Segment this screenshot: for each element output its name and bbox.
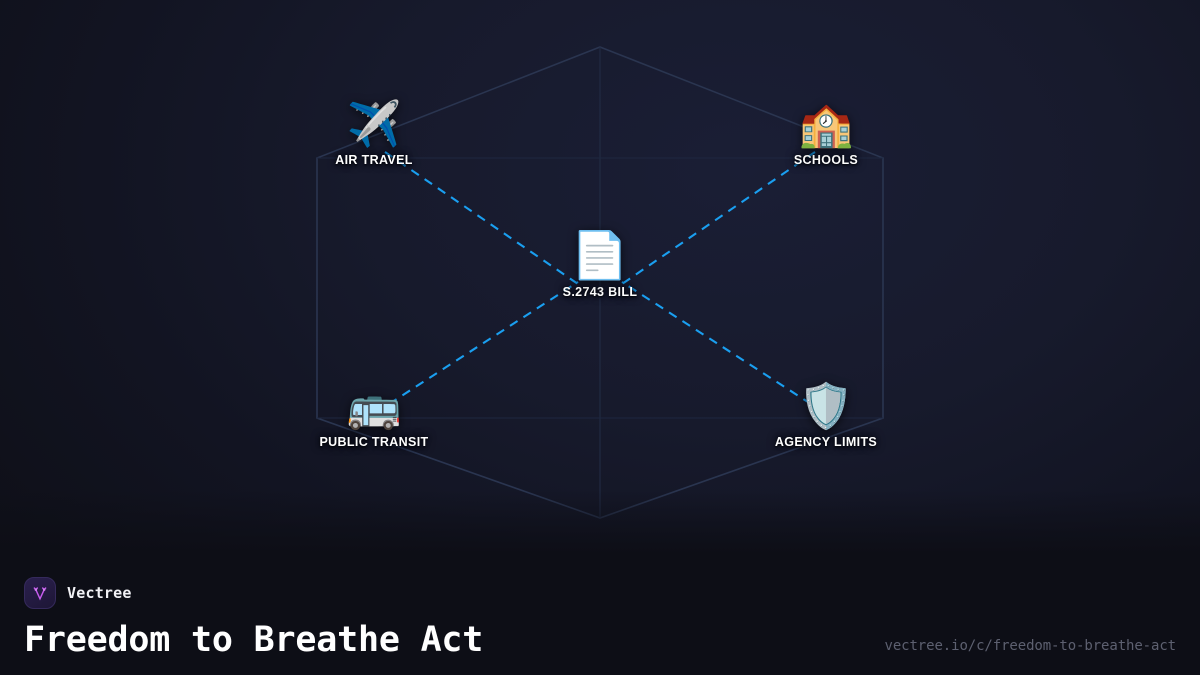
title-row: Freedom to Breathe Act vectree.io/c/free… (24, 619, 1176, 661)
school-icon: 🏫 (751, 99, 901, 151)
airplane-icon: ✈️ (299, 99, 449, 151)
graph-node-label-bill: S.2743 BILL (563, 285, 638, 299)
graph-node-air-travel[interactable]: ✈️ AIR TRAVEL (299, 99, 449, 169)
brand-name: Vectree (67, 584, 132, 602)
vectree-glyph (30, 583, 50, 603)
vectree-logo-icon[interactable] (24, 577, 56, 609)
app-root: ✈️ AIR TRAVEL 🏫 SCHOOLS 📄 S.2743 BILL 🚌 … (0, 0, 1200, 675)
graph-node-public-transit[interactable]: 🚌 PUBLIC TRANSIT (299, 381, 449, 451)
shield-icon: 🛡️ (751, 381, 901, 433)
page-url: vectree.io/c/freedom-to-breathe-act (884, 638, 1176, 661)
bus-icon: 🚌 (299, 381, 449, 433)
graph-node-bill[interactable]: 📄 S.2743 BILL (525, 227, 675, 301)
graph-canvas[interactable]: ✈️ AIR TRAVEL 🏫 SCHOOLS 📄 S.2743 BILL 🚌 … (0, 0, 1200, 560)
graph-node-label-agency-limits: AGENCY LIMITS (775, 435, 877, 449)
graph-node-label-air-travel: AIR TRAVEL (335, 153, 413, 167)
graph-node-schools[interactable]: 🏫 SCHOOLS (751, 99, 901, 169)
footer-bar: Vectree Freedom to Breathe Act vectree.i… (0, 560, 1200, 675)
document-icon: 📄 (525, 227, 675, 283)
graph-node-label-schools: SCHOOLS (794, 153, 858, 167)
graph-node-agency-limits[interactable]: 🛡️ AGENCY LIMITS (751, 381, 901, 451)
brand-row: Vectree (24, 576, 1176, 610)
page-title: Freedom to Breathe Act (24, 619, 483, 661)
graph-node-label-public-transit: PUBLIC TRANSIT (319, 435, 428, 449)
